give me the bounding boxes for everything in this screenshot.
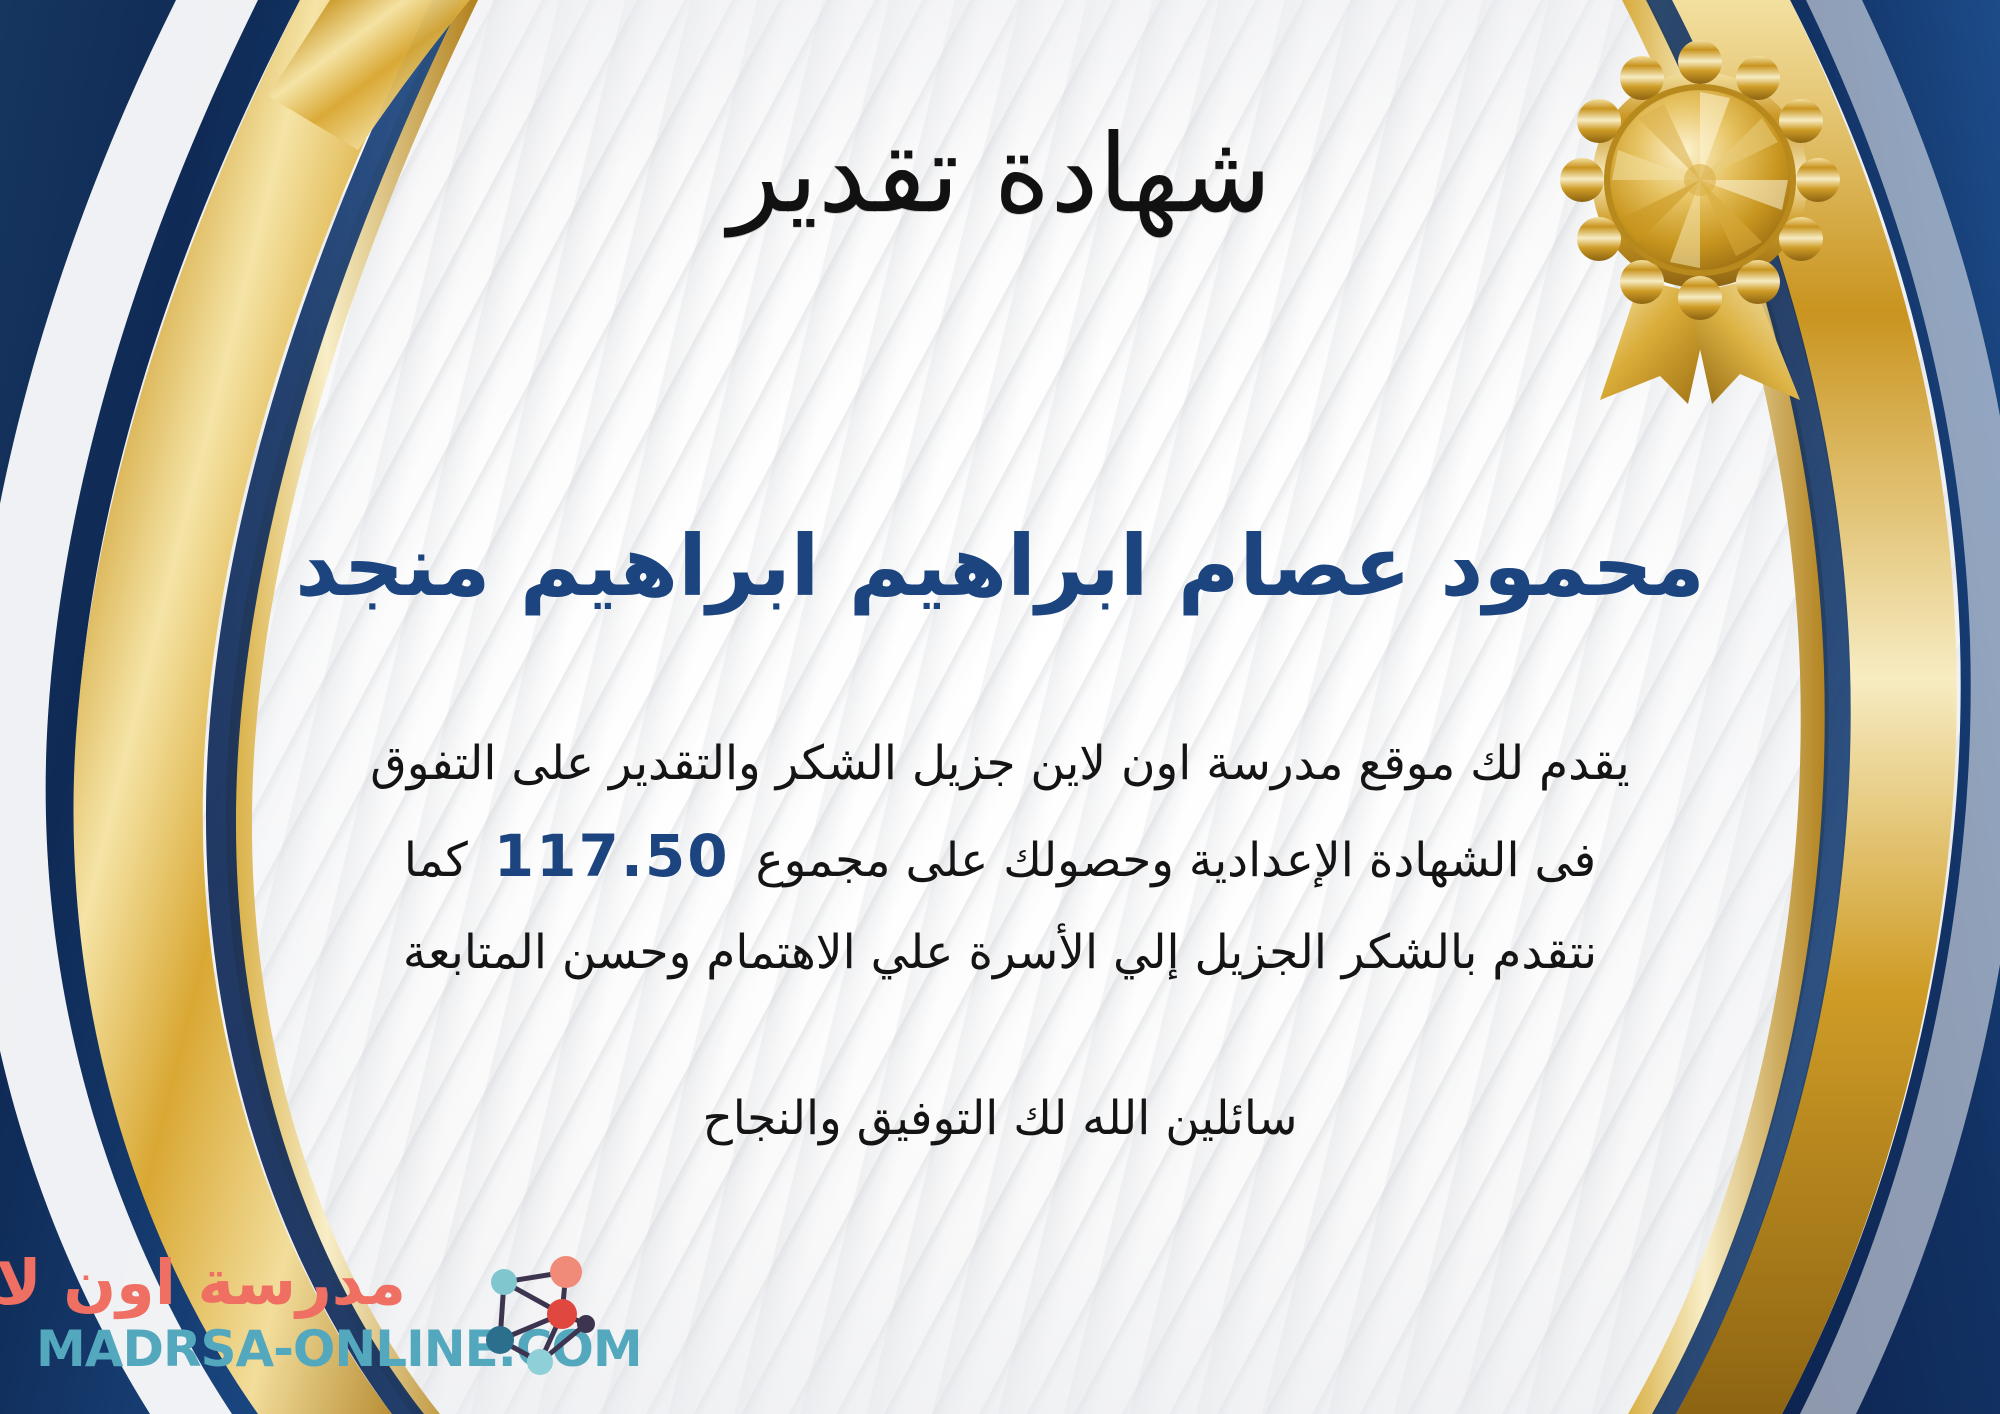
certificate-body: يقدم لك موقع مدرسة اون لاين جزيل الشكر و… bbox=[215, 718, 1785, 999]
certificate-canvas: شهادة تقدير محمود عصام ابراهيم ابراهيم م… bbox=[0, 0, 2000, 1414]
total-score-value: 117.50 bbox=[468, 810, 756, 902]
logo-arabic-name: مدرسة اون لاين bbox=[36, 1246, 406, 1320]
body-line-3: نتقدم بالشكر الجزيل إلي الأسرة علي الاهت… bbox=[215, 907, 1785, 999]
body-line-2-prefix: فى الشهادة الإعدادية وحصولك على مجموع bbox=[756, 833, 1597, 888]
network-nodes-icon bbox=[478, 1252, 598, 1377]
body-line-2: فى الشهادة الإعدادية وحصولك على مجموع117… bbox=[215, 810, 1785, 907]
page-title: شهادة تقدير bbox=[0, 118, 2000, 231]
logo-website-url: MADRSA-ONLINE.COM bbox=[36, 1320, 406, 1378]
body-line-2-suffix: كما bbox=[404, 833, 468, 888]
site-logo[interactable]: مدرسة اون لاين MADRSA-ONLINE.COM bbox=[36, 1246, 506, 1396]
student-name: محمود عصام ابراهيم ابراهيم منجد bbox=[0, 518, 2000, 615]
closing-wish: سائلين الله لك التوفيق والنجاح bbox=[0, 1088, 2000, 1149]
body-line-1: يقدم لك موقع مدرسة اون لاين جزيل الشكر و… bbox=[215, 718, 1785, 810]
